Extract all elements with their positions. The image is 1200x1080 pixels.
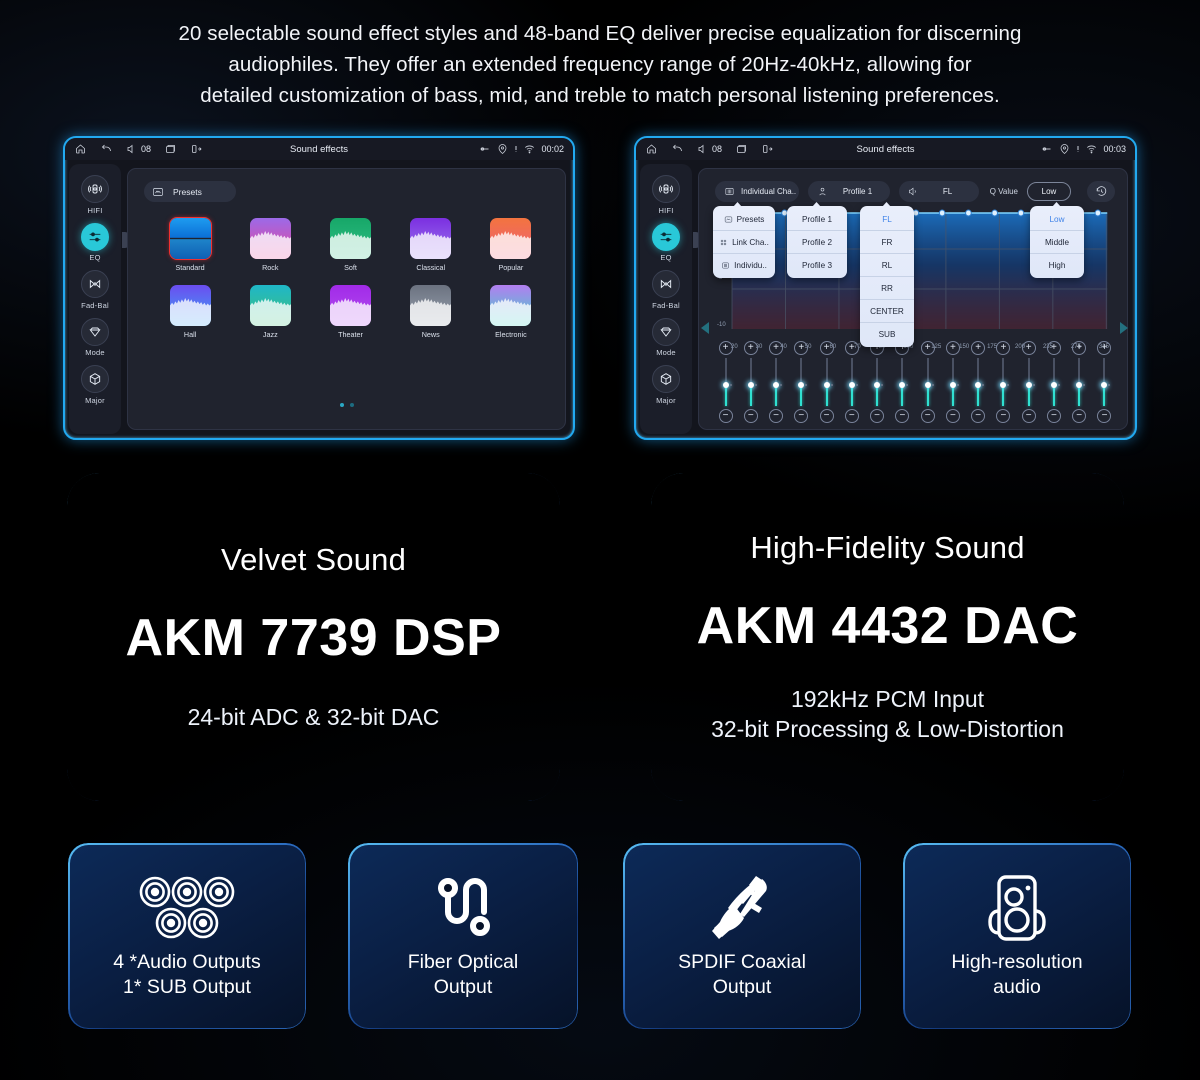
eq-slider[interactable]: +−: [740, 341, 761, 423]
dropdown-item-presets[interactable]: Presets: [713, 208, 775, 231]
slider-knob[interactable]: [1026, 382, 1032, 388]
dropdown-item-profile-3[interactable]: Profile 3: [787, 254, 847, 276]
split-screen-icon[interactable]: [190, 143, 203, 155]
home-icon[interactable]: [645, 143, 658, 155]
feature-label-line: High-resolution: [951, 950, 1082, 975]
dropdown-item-rl[interactable]: RL: [860, 254, 914, 277]
slider-tick-dot: [1007, 384, 1009, 386]
headline-line-3: detailed customization of bass, mid, and…: [90, 80, 1110, 111]
slider-plus-button[interactable]: +: [1072, 341, 1086, 355]
signal-icon: [1076, 143, 1080, 155]
presets-panel: Presets StandardRockSoftClassicalPopular…: [127, 168, 566, 430]
feature-label: High-resolution audio: [951, 950, 1082, 1000]
eq-slider[interactable]: +−: [968, 341, 989, 423]
dropdown-item-center[interactable]: CENTER: [860, 300, 914, 323]
eq-slider[interactable]: +−: [715, 341, 736, 423]
slider-track[interactable]: [927, 358, 929, 406]
eq-slider[interactable]: +−: [1018, 341, 1039, 423]
slider-minus-button[interactable]: −: [744, 409, 758, 423]
slider-fill: [851, 385, 853, 406]
reset-history-icon: [1095, 185, 1108, 198]
card-subtitle: 192kHz PCM Input 32-bit Processing & Low…: [711, 684, 1064, 744]
preset-label: Jazz: [263, 330, 278, 339]
slider-fill: [1028, 385, 1030, 406]
dropdown-item-middle[interactable]: Middle: [1030, 231, 1084, 254]
channels-icon: [724, 186, 735, 197]
slider-tick-dot: [1108, 384, 1110, 386]
slider-fill: [1053, 385, 1055, 406]
preset-tile-rock[interactable]: [249, 217, 292, 260]
slider-tick-dot: [831, 384, 833, 386]
sidebar-item-eq[interactable]: EQ: [640, 223, 692, 263]
volume-level: 08: [712, 144, 722, 154]
feature-label-line: Output: [678, 975, 806, 1000]
dropdown-profile[interactable]: Profile 1 Profile 2 Profile 3: [787, 206, 847, 278]
feature-label-line: SPDIF Coaxial: [678, 950, 806, 975]
card-subtitle-line: 32-bit Processing & Low-Distortion: [711, 714, 1064, 744]
card-title: AKM 7739 DSP: [126, 608, 502, 668]
clock-time: 00:02: [541, 144, 564, 154]
page-headline: 20 selectable sound effect styles and 48…: [0, 18, 1200, 111]
slider-tick-dot: [780, 384, 782, 386]
preset-label: Soft: [344, 263, 357, 272]
slider-minus-button[interactable]: −: [1022, 409, 1036, 423]
slider-knob[interactable]: [1076, 382, 1082, 388]
feature-card-rca-outputs[interactable]: 4 *Audio Outputs 1* SUB Output: [68, 843, 306, 1029]
mode-select-chip[interactable]: Individual Cha..: [715, 181, 799, 202]
dropdown-item-high[interactable]: High: [1030, 254, 1084, 276]
chip-card-dac: High-Fidelity Sound AKM 4432 DAC 192kHz …: [650, 472, 1125, 802]
profile-select-chip[interactable]: Profile 1: [808, 181, 890, 202]
recents-icon[interactable]: [735, 143, 748, 155]
q-value-label: Q Value: [990, 187, 1018, 196]
slider-plus-button[interactable]: +: [719, 341, 733, 355]
slider-plus-button[interactable]: +: [1097, 341, 1111, 355]
sidebar-item-mode[interactable]: Mode: [69, 318, 121, 358]
slider-fill: [952, 385, 954, 406]
sidebar-label-hifi: HIFI: [88, 206, 103, 215]
dropdown-item-profile-2[interactable]: Profile 2: [787, 231, 847, 254]
next-arrow[interactable]: [1120, 322, 1128, 334]
preset-label: Popular: [499, 263, 524, 272]
slider-plus-button[interactable]: +: [769, 341, 783, 355]
card-kicker: Velvet Sound: [221, 542, 406, 578]
slider-plus-button[interactable]: +: [971, 341, 985, 355]
slider-knob[interactable]: [849, 382, 855, 388]
sidebar-item-hifi[interactable]: HIFI: [69, 175, 121, 215]
slider-tick-dot: [1058, 384, 1060, 386]
eq-slider[interactable]: +−: [816, 341, 837, 423]
slider-knob[interactable]: [925, 382, 931, 388]
slider-minus-button[interactable]: −: [971, 409, 985, 423]
pager-dot-1[interactable]: [340, 403, 344, 407]
split-screen-icon[interactable]: [761, 143, 774, 155]
slider-fill: [977, 385, 979, 406]
feature-label: SPDIF Coaxial Output: [678, 950, 806, 1000]
cube-major-icon: [658, 371, 674, 387]
tablet-screenshot-eq: 08 Sound effects 00:03 HIFI EQ Fad-Bal: [634, 136, 1137, 440]
slider-fill: [775, 385, 777, 406]
eq-slider[interactable]: +−: [1094, 341, 1115, 423]
slider-minus-button[interactable]: −: [719, 409, 733, 423]
headline-line-2: audiophiles. They offer an extended freq…: [90, 49, 1110, 80]
back-icon[interactable]: [671, 143, 684, 155]
fader-balance-icon: [658, 276, 674, 292]
slider-knob[interactable]: [874, 382, 880, 388]
slider-plus-button[interactable]: +: [1022, 341, 1036, 355]
preset-tile-jazz[interactable]: [249, 284, 292, 327]
headline-line-1: 20 selectable sound effect styles and 48…: [90, 18, 1110, 49]
slider-tick-dot: [805, 384, 807, 386]
speaker-icon: [908, 186, 919, 197]
dropdown-item-individual[interactable]: Individu..: [713, 254, 775, 276]
slider-fill: [1103, 385, 1105, 406]
sidebar-item-fad-bal[interactable]: Fad-Bal: [69, 270, 121, 310]
bluetooth-icon: [1040, 143, 1053, 155]
feature-card-fiber-optical[interactable]: Fiber Optical Output: [348, 843, 578, 1029]
slider-track[interactable]: [1103, 358, 1105, 406]
presets-icon: [152, 186, 164, 198]
pager-dots: [128, 403, 565, 407]
slider-plus-button[interactable]: +: [794, 341, 808, 355]
slider-tick-dot: [730, 384, 732, 386]
slider-track[interactable]: [750, 358, 752, 406]
sidebar-item-hifi[interactable]: HIFI: [640, 175, 692, 215]
eq-slider[interactable]: +−: [942, 341, 963, 423]
preset-cell: Standard: [150, 217, 230, 272]
reset-button[interactable]: [1087, 181, 1115, 202]
slider-track[interactable]: [977, 358, 979, 406]
chip-card-dsp: Velvet Sound AKM 7739 DSP 24-bit ADC & 3…: [66, 472, 561, 802]
mode-select-label: Individual Cha..: [741, 187, 796, 196]
eq-slider[interactable]: +−: [917, 341, 938, 423]
sidebar-label-eq: EQ: [89, 253, 100, 262]
preset-cell: Popular: [471, 217, 551, 272]
card-kicker: High-Fidelity Sound: [750, 530, 1024, 566]
preset-cell: Jazz: [230, 284, 310, 339]
slider-fill: [927, 385, 929, 406]
volume-icon[interactable]: [126, 143, 139, 155]
preset-label: Hall: [184, 330, 196, 339]
wifi-icon: [523, 143, 536, 155]
eq-slider[interactable]: +−: [766, 341, 787, 423]
speaker-hires-icon: [978, 872, 1056, 944]
slider-fill: [826, 385, 828, 406]
dropdown-mode[interactable]: Presets Link Cha.. Individu..: [713, 206, 775, 278]
presets-icon: [724, 215, 733, 224]
location-icon: [1058, 143, 1071, 155]
equalizer-icon: [87, 229, 103, 245]
slider-tick-dot: [1033, 384, 1035, 386]
card-title: AKM 4432 DAC: [697, 596, 1079, 656]
card-subtitle: 24-bit ADC & 32-bit DAC: [188, 702, 440, 732]
channel-select-label: FL: [925, 187, 970, 196]
preset-tile-theater[interactable]: [329, 284, 372, 327]
sidebar-item-mode[interactable]: Mode: [640, 318, 692, 358]
slider-tick-dot: [856, 384, 858, 386]
volume-icon[interactable]: [697, 143, 710, 155]
slider-tick-dot: [881, 384, 883, 386]
sidebar-label-eq: EQ: [660, 253, 671, 262]
sidebar-item-major[interactable]: Major: [640, 365, 692, 405]
slider-minus-button[interactable]: −: [845, 409, 859, 423]
signal-icon: [514, 143, 518, 155]
fiber-optical-icon: [432, 872, 494, 944]
eq-toolbar: Individual Cha.. Profile 1 FL Q Value Lo…: [715, 180, 1115, 202]
slider-knob[interactable]: [899, 382, 905, 388]
slider-plus-button[interactable]: +: [744, 341, 758, 355]
profile-select-label: Profile 1: [834, 187, 881, 196]
dropdown-item-sub[interactable]: SUB: [860, 323, 914, 345]
preset-tile-hall[interactable]: [169, 284, 212, 327]
slider-plus-button[interactable]: +: [820, 341, 834, 355]
slider-minus-button[interactable]: −: [946, 409, 960, 423]
slider-minus-button[interactable]: −: [921, 409, 935, 423]
sidebar-label-fad-bal: Fad-Bal: [652, 301, 680, 310]
preset-cell: Soft: [310, 217, 390, 272]
left-rail-nav: HIFI EQ Fad-Bal Mode Major: [640, 164, 692, 434]
feature-card-high-resolution-audio[interactable]: High-resolution audio: [903, 843, 1131, 1029]
slider-tick-dot: [957, 384, 959, 386]
preset-label: Theater: [338, 330, 363, 339]
diamond-mode-icon: [87, 324, 103, 340]
fader-balance-icon: [87, 276, 103, 292]
feature-label: 4 *Audio Outputs 1* SUB Output: [113, 950, 260, 1000]
eq-slider[interactable]: +−: [1043, 341, 1064, 423]
preset-grid: StandardRockSoftClassicalPopularHallJazz…: [150, 217, 551, 339]
preset-label: Rock: [262, 263, 278, 272]
slider-tick-dot: [1083, 384, 1085, 386]
preset-tile-popular[interactable]: [489, 217, 532, 260]
slider-tick-dot: [906, 384, 908, 386]
feature-label-line: 1* SUB Output: [113, 975, 260, 1000]
dropdown-item-fl[interactable]: FL: [860, 208, 914, 231]
slider-minus-button[interactable]: −: [1097, 409, 1111, 423]
hifi-speaker-icon: [87, 181, 103, 197]
slider-minus-button[interactable]: −: [870, 409, 884, 423]
slider-track[interactable]: [1002, 358, 1004, 406]
preset-tile-electronic[interactable]: [489, 284, 532, 327]
dropdown-item-fr[interactable]: FR: [860, 231, 914, 254]
eq-slider-bank: +−+−+−+−+−+−+−+−+−+−+−+−+−+−+−+−: [715, 341, 1115, 423]
slider-fill: [725, 385, 727, 406]
sidebar-label-mode: Mode: [656, 348, 676, 357]
left-rail-nav: HIFI EQ Fad-Bal Mode Major: [69, 164, 121, 434]
feature-label: Fiber Optical Output: [408, 950, 519, 1000]
location-icon: [496, 143, 509, 155]
slider-fill: [901, 385, 903, 406]
eq-slider[interactable]: +−: [841, 341, 862, 423]
sidebar-label-major: Major: [85, 396, 105, 405]
recents-icon[interactable]: [164, 143, 177, 155]
slider-tick-dot: [932, 384, 934, 386]
slider-fill: [800, 385, 802, 406]
preset-cell: News: [391, 284, 471, 339]
preset-tile-news[interactable]: [409, 284, 452, 327]
slider-tick-dot: [982, 384, 984, 386]
slider-track[interactable]: [775, 358, 777, 406]
preset-label: Classical: [416, 263, 445, 272]
slider-minus-button[interactable]: −: [996, 409, 1010, 423]
preset-tile-standard[interactable]: [169, 217, 212, 260]
home-icon[interactable]: [74, 143, 87, 155]
dropdown-channel[interactable]: FL FR RL RR CENTER SUB: [860, 206, 914, 347]
dropdown-item-profile-1[interactable]: Profile 1: [787, 208, 847, 231]
slider-knob[interactable]: [723, 382, 729, 388]
sidebar-item-eq[interactable]: EQ: [69, 223, 121, 263]
preset-tile-soft[interactable]: [329, 217, 372, 260]
feature-card-spdif-coaxial[interactable]: SPDIF Coaxial Output: [623, 843, 861, 1029]
slider-knob[interactable]: [824, 382, 830, 388]
sidebar-label-mode: Mode: [85, 348, 105, 357]
slider-knob[interactable]: [798, 382, 804, 388]
dropdown-item-link-channel[interactable]: Link Cha..: [713, 231, 775, 254]
slider-knob[interactable]: [773, 382, 779, 388]
presets-chip-label: Presets: [173, 187, 202, 197]
card-subtitle-line: 24-bit ADC & 32-bit DAC: [188, 702, 440, 732]
diamond-mode-icon: [658, 324, 674, 340]
slider-knob[interactable]: [950, 382, 956, 388]
prev-arrow[interactable]: [701, 322, 709, 334]
slider-fill: [750, 385, 752, 406]
link-channel-icon: [719, 238, 728, 247]
slider-plus-button[interactable]: +: [946, 341, 960, 355]
slider-tick-dot: [755, 384, 757, 386]
preset-cell: Rock: [230, 217, 310, 272]
slider-plus-button[interactable]: +: [996, 341, 1010, 355]
slider-track[interactable]: [901, 358, 903, 406]
slider-track[interactable]: [1053, 358, 1055, 406]
slider-knob[interactable]: [1101, 382, 1107, 388]
status-bar: 08 Sound effects 00:03: [636, 138, 1135, 160]
slider-minus-button[interactable]: −: [895, 409, 909, 423]
slider-knob[interactable]: [1000, 382, 1006, 388]
back-icon[interactable]: [100, 143, 113, 155]
eq-slider[interactable]: +−: [892, 341, 913, 423]
preset-tile-classical[interactable]: [409, 217, 452, 260]
preset-cell: Electronic: [471, 284, 551, 339]
preset-label: News: [422, 330, 440, 339]
dropdown-item-low[interactable]: Low: [1030, 208, 1084, 231]
preset-label: Electronic: [495, 330, 527, 339]
eq-slider[interactable]: +−: [1069, 341, 1090, 423]
slider-fill: [876, 385, 878, 406]
slider-minus-button[interactable]: −: [794, 409, 808, 423]
dropdown-q-value[interactable]: Low Middle High: [1030, 206, 1084, 278]
wifi-icon: [1085, 143, 1098, 155]
preset-cell: Theater: [310, 284, 390, 339]
slider-minus-button[interactable]: −: [769, 409, 783, 423]
eq-slider[interactable]: +−: [791, 341, 812, 423]
slider-plus-button[interactable]: +: [1047, 341, 1061, 355]
clock-time: 00:03: [1103, 144, 1126, 154]
sidebar-label-major: Major: [656, 396, 676, 405]
slider-knob[interactable]: [748, 382, 754, 388]
status-bar: 08 Sound effects 00:02: [65, 138, 573, 160]
slider-knob[interactable]: [975, 382, 981, 388]
rca-outputs-icon: [135, 872, 239, 944]
slider-track[interactable]: [876, 358, 878, 406]
slider-track[interactable]: [952, 358, 954, 406]
slider-track[interactable]: [826, 358, 828, 406]
eq-slider[interactable]: +−: [993, 341, 1014, 423]
pager-dot-2[interactable]: [350, 403, 354, 407]
presets-chip-button[interactable]: Presets: [144, 181, 236, 202]
slider-track[interactable]: [1078, 358, 1080, 406]
slider-track[interactable]: [1028, 358, 1030, 406]
card-subtitle-line: 192kHz PCM Input: [711, 684, 1064, 714]
slider-plus-button[interactable]: +: [845, 341, 859, 355]
y-tick-minus10: -10: [717, 322, 726, 328]
slider-knob[interactable]: [1051, 382, 1057, 388]
equalizer-icon: [658, 229, 674, 245]
sidebar-item-fad-bal[interactable]: Fad-Bal: [640, 270, 692, 310]
slider-minus-button[interactable]: −: [820, 409, 834, 423]
preset-cell: Classical: [391, 217, 471, 272]
cube-major-icon: [87, 371, 103, 387]
feature-label-line: 4 *Audio Outputs: [113, 950, 260, 975]
hifi-speaker-icon: [658, 181, 674, 197]
tablet-screenshot-presets: 08 Sound effects 00:02 HIFI EQ Fad-Bal: [63, 136, 575, 440]
channel-select-chip[interactable]: FL: [899, 181, 979, 202]
slider-minus-button[interactable]: −: [1047, 409, 1061, 423]
feature-label-line: Fiber Optical: [408, 950, 519, 975]
q-value-pill[interactable]: Low: [1027, 182, 1071, 201]
dropdown-item-rr[interactable]: RR: [860, 277, 914, 300]
q-value-text: Low: [1042, 187, 1057, 196]
individual-channel-icon: [721, 261, 730, 270]
slider-minus-button[interactable]: −: [1072, 409, 1086, 423]
slider-track[interactable]: [851, 358, 853, 406]
slider-track[interactable]: [725, 358, 727, 406]
eq-panel: Individual Cha.. Profile 1 FL Q Value Lo…: [698, 168, 1128, 430]
slider-fill: [1002, 385, 1004, 406]
bluetooth-icon: [478, 143, 491, 155]
feature-label-line: Output: [408, 975, 519, 1000]
sidebar-label-fad-bal: Fad-Bal: [81, 301, 109, 310]
preset-label: Standard: [176, 263, 205, 272]
slider-plus-button[interactable]: +: [921, 341, 935, 355]
person-icon: [817, 186, 828, 197]
volume-level: 08: [141, 144, 151, 154]
preset-cell: Hall: [150, 284, 230, 339]
spdif-coaxial-icon: [700, 872, 784, 944]
sidebar-label-hifi: HIFI: [659, 206, 674, 215]
feature-label-line: audio: [951, 975, 1082, 1000]
sidebar-item-major[interactable]: Major: [69, 365, 121, 405]
slider-fill: [1078, 385, 1080, 406]
eq-slider[interactable]: +−: [867, 341, 888, 423]
slider-track[interactable]: [800, 358, 802, 406]
